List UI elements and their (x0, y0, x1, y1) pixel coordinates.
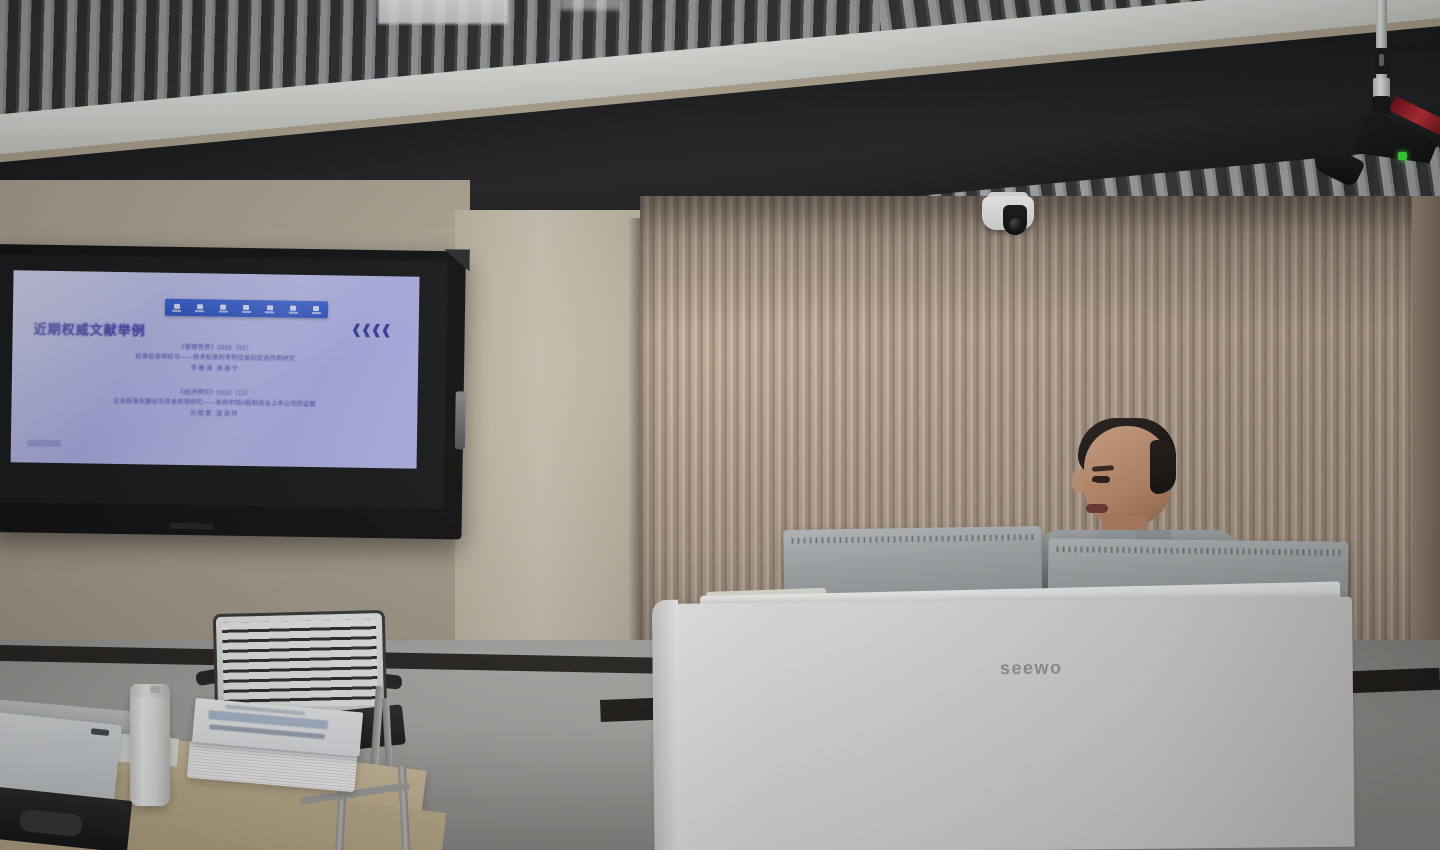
more-icon[interactable] (310, 304, 322, 315)
ceiling-light-panel-secondary (560, 0, 620, 10)
thermos-button (150, 686, 161, 693)
image-icon[interactable] (264, 303, 276, 314)
podium-brand-logo: seewo (1000, 658, 1063, 680)
select-icon[interactable] (217, 303, 229, 314)
document-stack (187, 698, 363, 793)
display-bezel: 近期权威文献举例 ❰❰❰❰ 《管理世界》2025（01） 标准信息供给与——技术… (0, 254, 448, 509)
ceiling-light-panel (378, 0, 508, 24)
thermos-bottle (130, 688, 170, 806)
interactive-flat-panel[interactable]: 近期权威文献举例 ❰❰❰❰ 《管理世界》2025（01） 标准信息供给与——技术… (0, 244, 466, 539)
camera-clamp-hole (1379, 54, 1384, 66)
pen-icon[interactable] (171, 302, 183, 313)
ceiling-tracking-camera (1352, 0, 1440, 196)
undo-icon[interactable] (287, 304, 299, 315)
wall-column (455, 210, 645, 650)
display-brand-plate (170, 523, 214, 530)
chevron-left-icon: ❰❰❰❰ (351, 322, 391, 339)
reference-entry: 《经济研究》2022（12） 企业标准化建设与资本市场研究——来自中国A股制造业… (11, 385, 417, 422)
dome-camera-icon (982, 196, 1034, 242)
podium-body (652, 597, 1355, 850)
presenter-hair-side (1150, 440, 1176, 494)
dome-camera-lens (1009, 218, 1022, 231)
monitor-vents (1056, 546, 1340, 555)
shape-icon[interactable] (240, 303, 252, 314)
eraser-icon[interactable] (194, 302, 206, 313)
display-screen[interactable]: 近期权威文献举例 ❰❰❰❰ 《管理世界》2025（01） 标准信息供给与——技术… (11, 270, 420, 468)
right-wall-edge (1412, 196, 1440, 666)
slide-body: 《管理世界》2025（01） 标准信息供给与——技术标准的专利交易的促进作用研究… (11, 340, 418, 436)
presenter-nose (1084, 482, 1098, 500)
camera-status-led-icon (1398, 152, 1407, 160)
monitor-vents (791, 534, 1033, 544)
slide-title: 近期权威文献举例 (34, 319, 146, 340)
lecture-room-scene: 近期权威文献举例 ❰❰❰❰ 《管理世界》2025（01） 标准信息供给与——技术… (0, 0, 1440, 850)
slide-toolbar[interactable] (165, 299, 328, 319)
presenter-mouth (1086, 504, 1108, 513)
chair-back-slats (222, 619, 378, 709)
slide-page-indicator (27, 440, 61, 448)
camera-cable (1388, 46, 1440, 89)
reference-entry: 《管理世界》2025（01） 标准信息供给与——技术标准的专利交易的促进作用研究… (12, 340, 418, 377)
display-side-port (455, 391, 466, 449)
podium-left-edge (652, 600, 681, 850)
laptop-hinge-notch (91, 728, 110, 736)
